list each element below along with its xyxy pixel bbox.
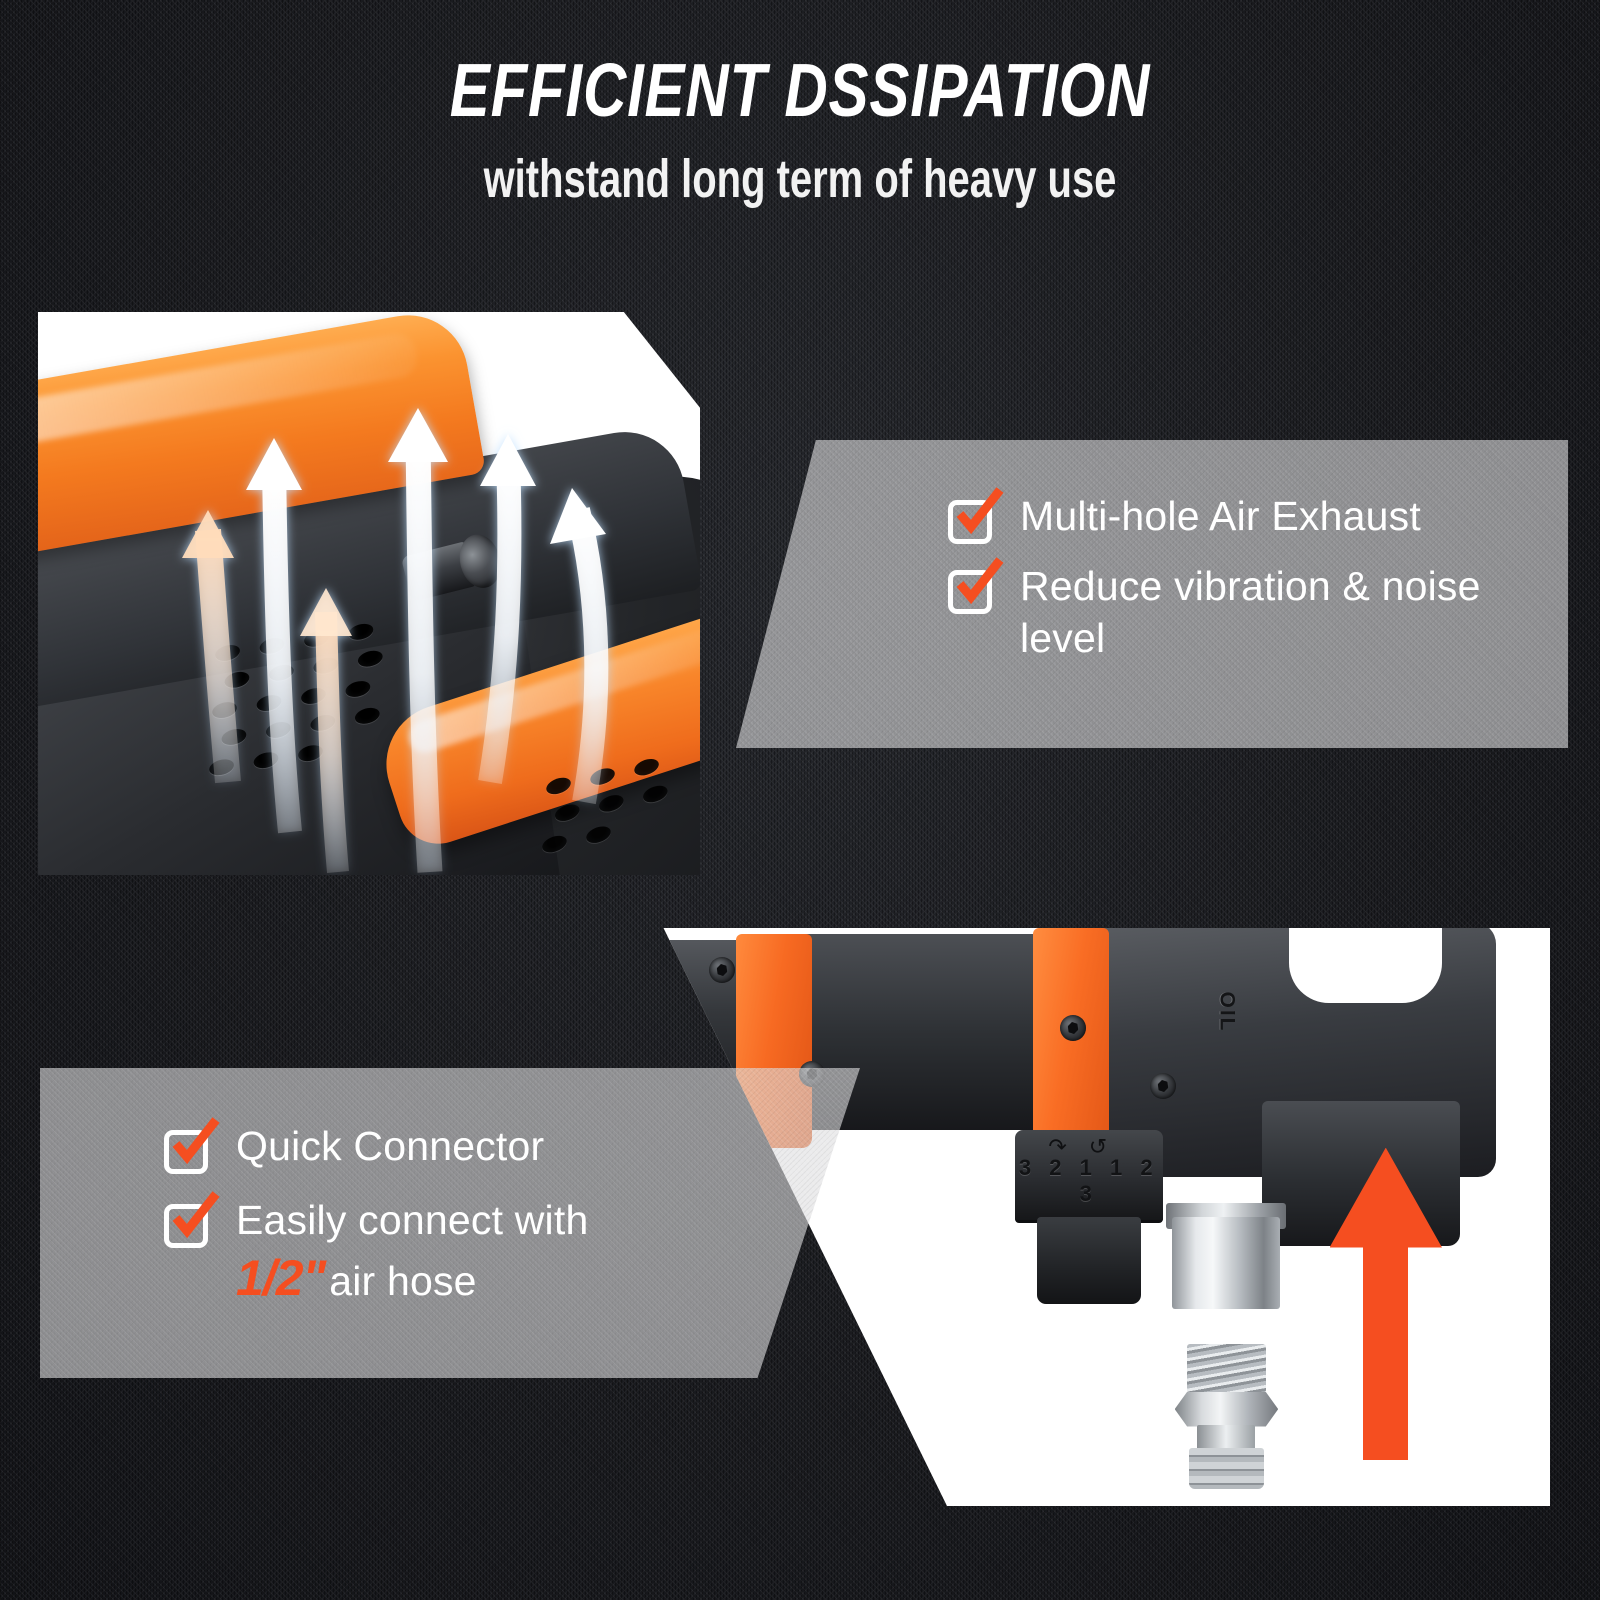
exhaust-feature-panel: Multi-hole Air Exhaust Reduce vibration … [736,440,1568,748]
hose-barb-fitting [1175,1344,1279,1489]
feature-row: Reduce vibration & noise level [946,558,1546,665]
torque-regulator-dial: ↷↺ 3 2 1 1 2 3 [1015,1130,1164,1222]
feature-row-highlight: Easily connect with 1/2"air hose [162,1192,782,1310]
barb-ribbed-tail [1189,1448,1264,1488]
barb-hex-nut [1175,1392,1279,1427]
exhaust-scene [38,312,700,875]
connector-feature-panel: Quick Connector Easily connect with 1/2"… [40,1068,860,1378]
exhaust-feature-list: Multi-hole Air Exhaust Reduce vibration … [946,488,1546,665]
checkbox-checked-icon [946,492,998,544]
checkbox-checked-icon [946,562,998,614]
torque-dial-numbers: 3 2 1 1 2 3 [1015,1155,1164,1207]
hose-size-value: 1/2" [236,1250,325,1306]
airflow-arrow-6 [550,488,606,802]
header-block: EFFICIENT DSSIPATION withstand long term… [0,52,1600,207]
airflow-arrow-4 [388,408,448,872]
feature-label: Multi-hole Air Exhaust [1020,488,1421,542]
product-feature-page: EFFICIENT DSSIPATION withstand long term… [0,0,1600,1600]
feature-label: Quick Connector [236,1118,544,1172]
torque-regulator-stub [1037,1217,1141,1304]
airflow-arrow-2 [246,438,302,832]
wrench-hanger-cutout [1289,928,1442,1003]
hose-line-2: air hose [329,1258,476,1304]
airflow-arrow-5 [480,434,536,782]
oil-marking-label: OIL [1215,992,1239,1033]
air-inlet-chrome [1172,1217,1280,1309]
airflow-arrow-1 [182,510,234,782]
page-title: EFFICIENT DSSIPATION [160,52,1440,129]
hex-screw-icon [1150,1073,1176,1099]
feature-label: Reduce vibration & noise level [1020,558,1546,665]
checkbox-checked-icon [162,1122,214,1174]
feature-row: Multi-hole Air Exhaust [946,488,1546,544]
feature-label-highlight: Easily connect with 1/2"air hose [236,1192,588,1310]
hex-screw-icon [709,957,735,983]
connector-feature-list: Quick Connector Easily connect with 1/2"… [162,1118,782,1310]
hose-line-1: Easily connect with [236,1197,588,1243]
hex-screw-icon [1060,1015,1086,1041]
airflow-arrows [38,312,700,875]
air-exhaust-closeup-photo [38,312,700,875]
barb-threaded-end [1187,1344,1266,1393]
connection-direction-arrow-icon [1330,1148,1443,1460]
barb-stem [1197,1425,1255,1451]
airflow-arrow-3 [300,588,352,872]
feature-row: Quick Connector [162,1118,782,1174]
checkbox-checked-icon [162,1196,214,1248]
page-subtitle: withstand long term of heavy use [208,151,1392,207]
